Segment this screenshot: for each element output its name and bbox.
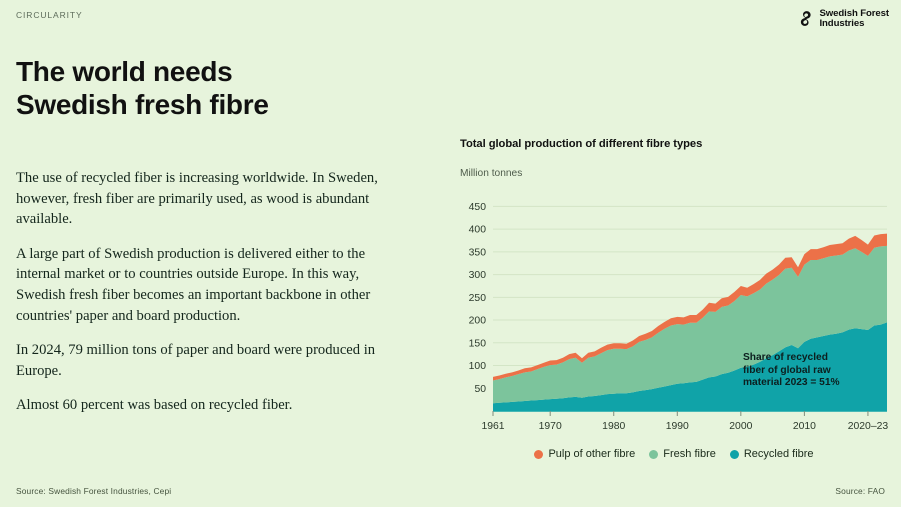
legend-item-pulp-of-other-fibre[interactable]: Pulp of other fibre xyxy=(534,448,635,460)
chart-unit-label: Million tonnes xyxy=(460,168,522,179)
legend-swatch-icon xyxy=(534,450,543,459)
fibre-production-area-chart: 5010015020025030035040045019611970198019… xyxy=(455,185,893,445)
body-paragraph-1: The use of recycled fiber is increasing … xyxy=(16,168,394,230)
source-note-right: Source: FAO xyxy=(835,486,885,496)
page-title: The world needs Swedish fresh fibre xyxy=(16,55,436,121)
y-axis-tick-label: 200 xyxy=(469,316,487,327)
x-axis-tick-label: 2020–23 xyxy=(848,421,889,432)
y-axis-tick-label: 250 xyxy=(469,293,487,304)
chart-legend: Pulp of other fibre Fresh fibre Recycled… xyxy=(460,448,888,460)
y-axis-tick-label: 150 xyxy=(469,338,487,349)
brand-logo-line2: Industries xyxy=(819,19,889,29)
chart-annotation-line3: material 2023 = 51% xyxy=(743,377,873,390)
y-axis-tick-label: 300 xyxy=(469,270,487,281)
legend-label: Pulp of other fibre xyxy=(548,448,635,460)
y-axis-tick-label: 400 xyxy=(469,225,487,236)
x-axis-tick-label: 2010 xyxy=(793,421,816,432)
body-paragraph-3: In 2024, 79 million tons of paper and bo… xyxy=(16,340,394,381)
legend-label: Fresh fibre xyxy=(663,448,716,460)
swedish-forest-industries-mark-icon xyxy=(795,9,814,28)
chart-annotation-line2: fiber of global raw xyxy=(743,365,873,378)
x-axis-tick-label: 1990 xyxy=(666,421,689,432)
body-paragraph-4: Almost 60 percent was based on recycled … xyxy=(16,395,394,416)
page-title-line1: The world needs xyxy=(16,55,436,88)
chart-annotation: Share of recycled fiber of global raw ma… xyxy=(743,352,873,390)
y-axis-tick-label: 450 xyxy=(469,202,487,213)
body-paragraph-2: A large part of Swedish production is de… xyxy=(16,244,394,326)
chart-annotation-line1: Share of recycled xyxy=(743,352,873,365)
chart-title: Total global production of different fib… xyxy=(460,138,702,150)
source-note-left: Source: Swedish Forest Industries, Cepi xyxy=(16,486,171,496)
y-axis-tick-label: 50 xyxy=(474,384,486,395)
slide-root: CIRCULARITY Swedish Forest Industries Th… xyxy=(0,0,901,507)
eyebrow-label: CIRCULARITY xyxy=(16,10,83,20)
brand-logo-text: Swedish Forest Industries xyxy=(819,9,889,29)
chart-block: Total global production of different fib… xyxy=(460,130,888,475)
body-copy: The use of recycled fiber is increasing … xyxy=(16,168,394,416)
x-axis-tick-label: 1970 xyxy=(539,421,562,432)
page-title-line2: Swedish fresh fibre xyxy=(16,88,436,121)
y-axis-tick-label: 350 xyxy=(469,247,487,258)
legend-item-fresh-fibre[interactable]: Fresh fibre xyxy=(649,448,716,460)
legend-item-recycled-fibre[interactable]: Recycled fibre xyxy=(730,448,814,460)
y-axis-tick-label: 100 xyxy=(469,361,487,372)
legend-swatch-icon xyxy=(730,450,739,459)
x-axis-tick-label: 1980 xyxy=(602,421,625,432)
x-axis-tick-label: 1961 xyxy=(481,421,504,432)
x-axis-tick-label: 2000 xyxy=(729,421,752,432)
legend-swatch-icon xyxy=(649,450,658,459)
legend-label: Recycled fibre xyxy=(744,448,814,460)
brand-logo: Swedish Forest Industries xyxy=(795,9,889,29)
